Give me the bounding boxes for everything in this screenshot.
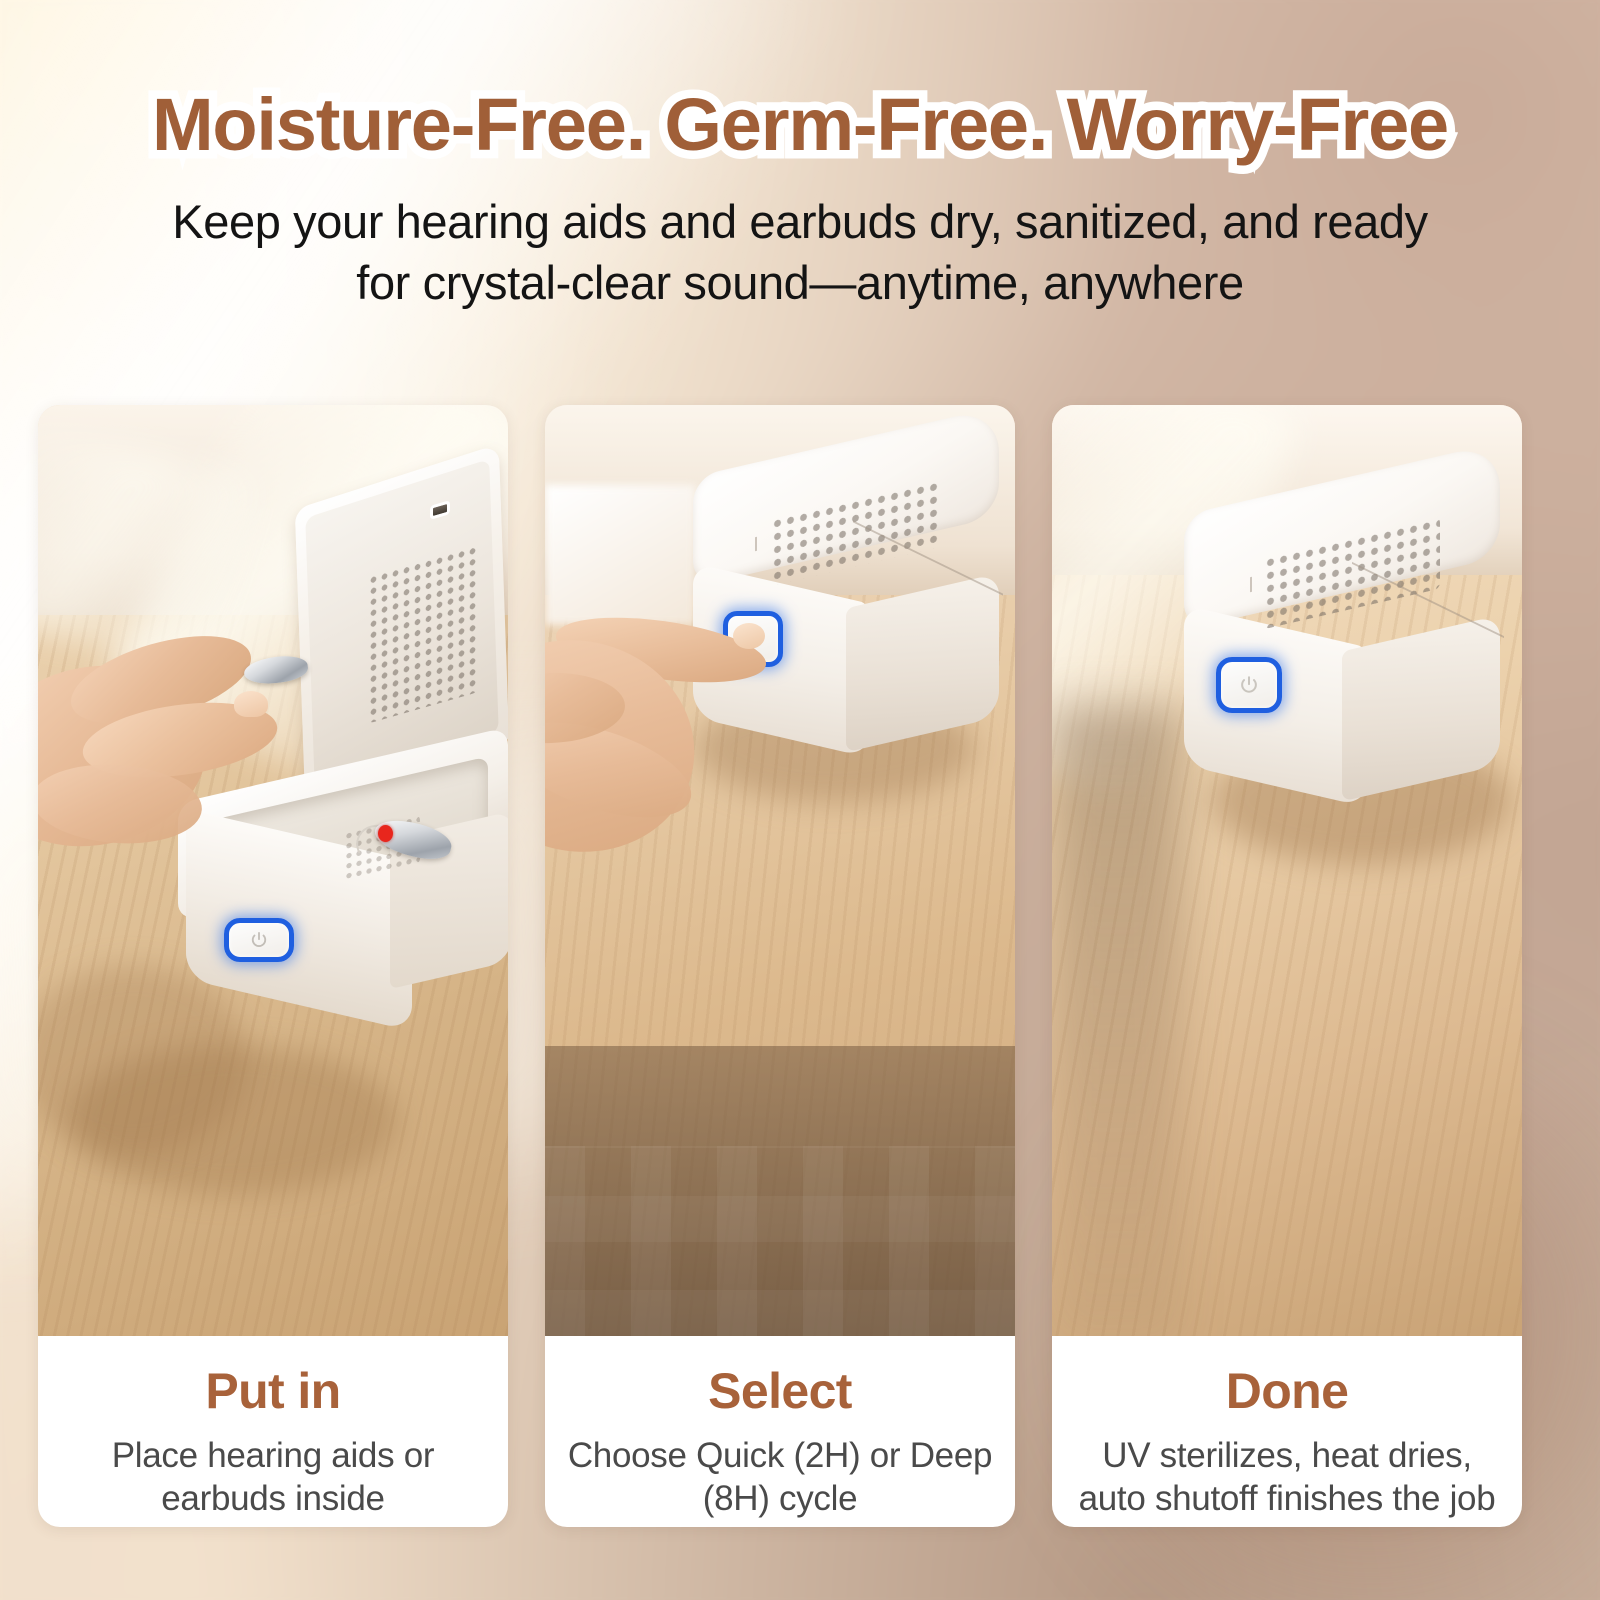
header: Moisture-Free. Germ-Free. Worry-Free Kee… (0, 0, 1600, 313)
window-reflection (545, 485, 695, 625)
caption-title: Select (708, 1362, 852, 1420)
step-photo-select (545, 405, 1015, 1336)
scene-closed-case (1052, 405, 1522, 1336)
step-photo-put-in (38, 405, 508, 1336)
power-button-icon[interactable] (224, 918, 294, 962)
hearing-aid-red-marker-icon (378, 825, 393, 842)
power-button-icon[interactable] (1216, 657, 1282, 713)
device-hinge-mark (755, 537, 757, 551)
step-photo-done (1052, 405, 1522, 1336)
scene-open-case (38, 405, 508, 1336)
lid-perforated-vent-icon (368, 544, 478, 724)
page-headline: Moisture-Free. Germ-Free. Worry-Free (0, 86, 1600, 164)
step-card-done[interactable]: Done UV sterilizes, heat dries, auto shu… (1052, 405, 1522, 1527)
caption-put-in: Put in Place hearing aids or earbuds ins… (38, 1336, 508, 1527)
caption-done: Done UV sterilizes, heat dries, auto shu… (1052, 1336, 1522, 1527)
caption-body: Place hearing aids or earbuds inside (54, 1434, 492, 1521)
hand-fingernail (234, 691, 268, 717)
step-card-put-in[interactable]: Put in Place hearing aids or earbuds ins… (38, 405, 508, 1527)
caption-title: Done (1226, 1362, 1349, 1420)
caption-select: Select Choose Quick (2H) or Deep (8H) cy… (545, 1336, 1015, 1527)
floor-tile-pattern (545, 1146, 1015, 1336)
steps-card-row: Put in Place hearing aids or earbuds ins… (38, 405, 1562, 1527)
uv-case-device (1184, 515, 1500, 765)
uv-case-device (693, 477, 999, 717)
left-edge-shadow (1052, 705, 1182, 1336)
page-subtitle: Keep your hearing aids and earbuds dry, … (150, 192, 1450, 312)
caption-body: Choose Quick (2H) or Deep (8H) cycle (561, 1434, 999, 1521)
caption-body: UV sterilizes, heat dries, auto shutoff … (1068, 1434, 1506, 1521)
finger-nail (733, 623, 765, 649)
scene-press-button (545, 405, 1015, 1336)
caption-title: Put in (205, 1362, 340, 1420)
step-card-select[interactable]: Select Choose Quick (2H) or Deep (8H) cy… (545, 405, 1015, 1527)
device-hinge-mark (1250, 577, 1252, 592)
